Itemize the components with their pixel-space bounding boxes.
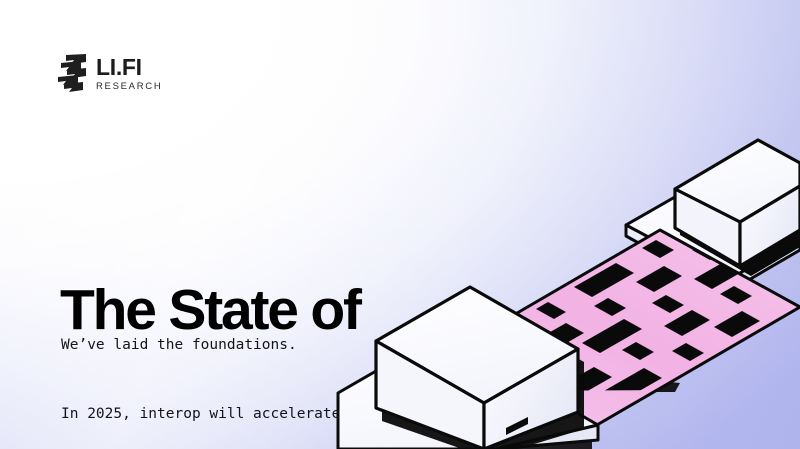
page-subtitle-line-2: In 2025, interop will accelerate [61,403,340,426]
lifi-research-logo[interactable]: LI.FI RESEARCH [57,54,162,93]
logo-text-group: LI.FI RESEARCH [96,54,162,93]
logo-sublabel: RESEARCH [96,81,162,93]
report-cover: LI.FI RESEARCH The State of Interop (202… [0,0,800,449]
page-subtitle: We’ve laid the foundations. In 2025, int… [61,288,340,449]
page-subtitle-line-1: We’ve laid the foundations. [61,334,340,357]
lifi-stacked-bars-logo-icon [57,54,87,92]
logo-wordmark: LI.FI [96,55,142,79]
